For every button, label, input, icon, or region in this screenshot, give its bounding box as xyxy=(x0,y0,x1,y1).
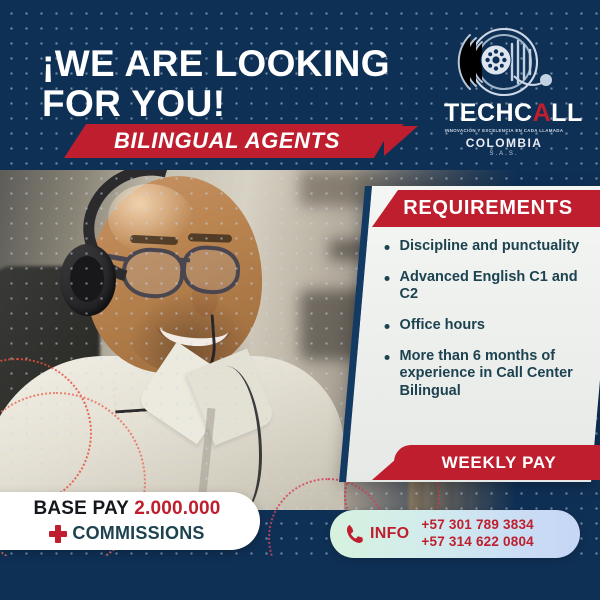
recruitment-poster: ¡WE ARE LOOKING FOR YOU! BILINGUAL AGENT… xyxy=(0,0,600,600)
phone-icon xyxy=(344,523,366,545)
base-pay-label: BASE PAY xyxy=(33,498,128,519)
brand-tagline: INNOVACIÓN Y EXCELENCIA EN CADA LLAMADA xyxy=(444,128,564,133)
brand-entity: S.A.S. xyxy=(444,151,564,157)
requirements-title: REQUIREMENTS xyxy=(403,197,573,220)
requirement-item: Discipline and punctuality xyxy=(385,238,598,256)
requirement-item: Advanced English C1 and C2 xyxy=(385,269,598,304)
requirements-card: Discipline and punctuality Advanced Engl… xyxy=(339,186,600,482)
plus-icon xyxy=(49,525,67,543)
base-pay-pill: BASE PAY 2.000.000 COMMISSIONS xyxy=(0,492,260,550)
call-center-headset-globe-logo-icon xyxy=(452,24,556,100)
phone-number-list: +57 301 789 3834 +57 314 622 0804 xyxy=(421,517,533,550)
phone-number[interactable]: +57 301 789 3834 xyxy=(421,517,533,534)
role-banner-label: BILINGUAL AGENTS xyxy=(114,128,340,154)
requirements-header: REQUIREMENTS xyxy=(372,190,600,227)
commissions-label: COMMISSIONS xyxy=(72,523,204,544)
brand-word-accent: A xyxy=(533,99,552,127)
phone-number[interactable]: +57 314 622 0804 xyxy=(421,534,533,551)
role-banner: BILINGUAL AGENTS xyxy=(64,124,394,158)
red-accent-triangle xyxy=(384,126,418,156)
headline-line-1: ¡WE ARE LOOKING xyxy=(42,44,422,84)
contact-info-label: INFO xyxy=(370,525,409,543)
contact-info-pill[interactable]: INFO +57 301 789 3834 +57 314 622 0804 xyxy=(330,510,580,558)
base-pay-amount: 2.000.000 xyxy=(134,498,220,519)
brand-word-part1: TECHC xyxy=(444,99,533,127)
weekly-pay-label: WEEKLY PAY xyxy=(442,453,557,473)
brand-logo: TECHCALL INNOVACIÓN Y EXCELENCIA EN CADA… xyxy=(444,24,564,154)
requirement-item: Office hours xyxy=(385,317,598,335)
requirement-item: More than 6 months of experience in Call… xyxy=(385,348,598,401)
page-title: ¡WE ARE LOOKING FOR YOU! xyxy=(42,44,422,124)
weekly-pay-banner: WEEKLY PAY xyxy=(394,445,600,480)
brand-country: COLOMBIA xyxy=(444,136,564,150)
brand-wordmark: TECHCALL xyxy=(444,101,564,126)
bottom-navy-band xyxy=(0,556,600,600)
requirements-list: Discipline and punctuality Advanced Engl… xyxy=(385,238,598,401)
brand-word-part2: LL xyxy=(551,99,583,127)
headline-line-2: FOR YOU! xyxy=(42,84,422,124)
